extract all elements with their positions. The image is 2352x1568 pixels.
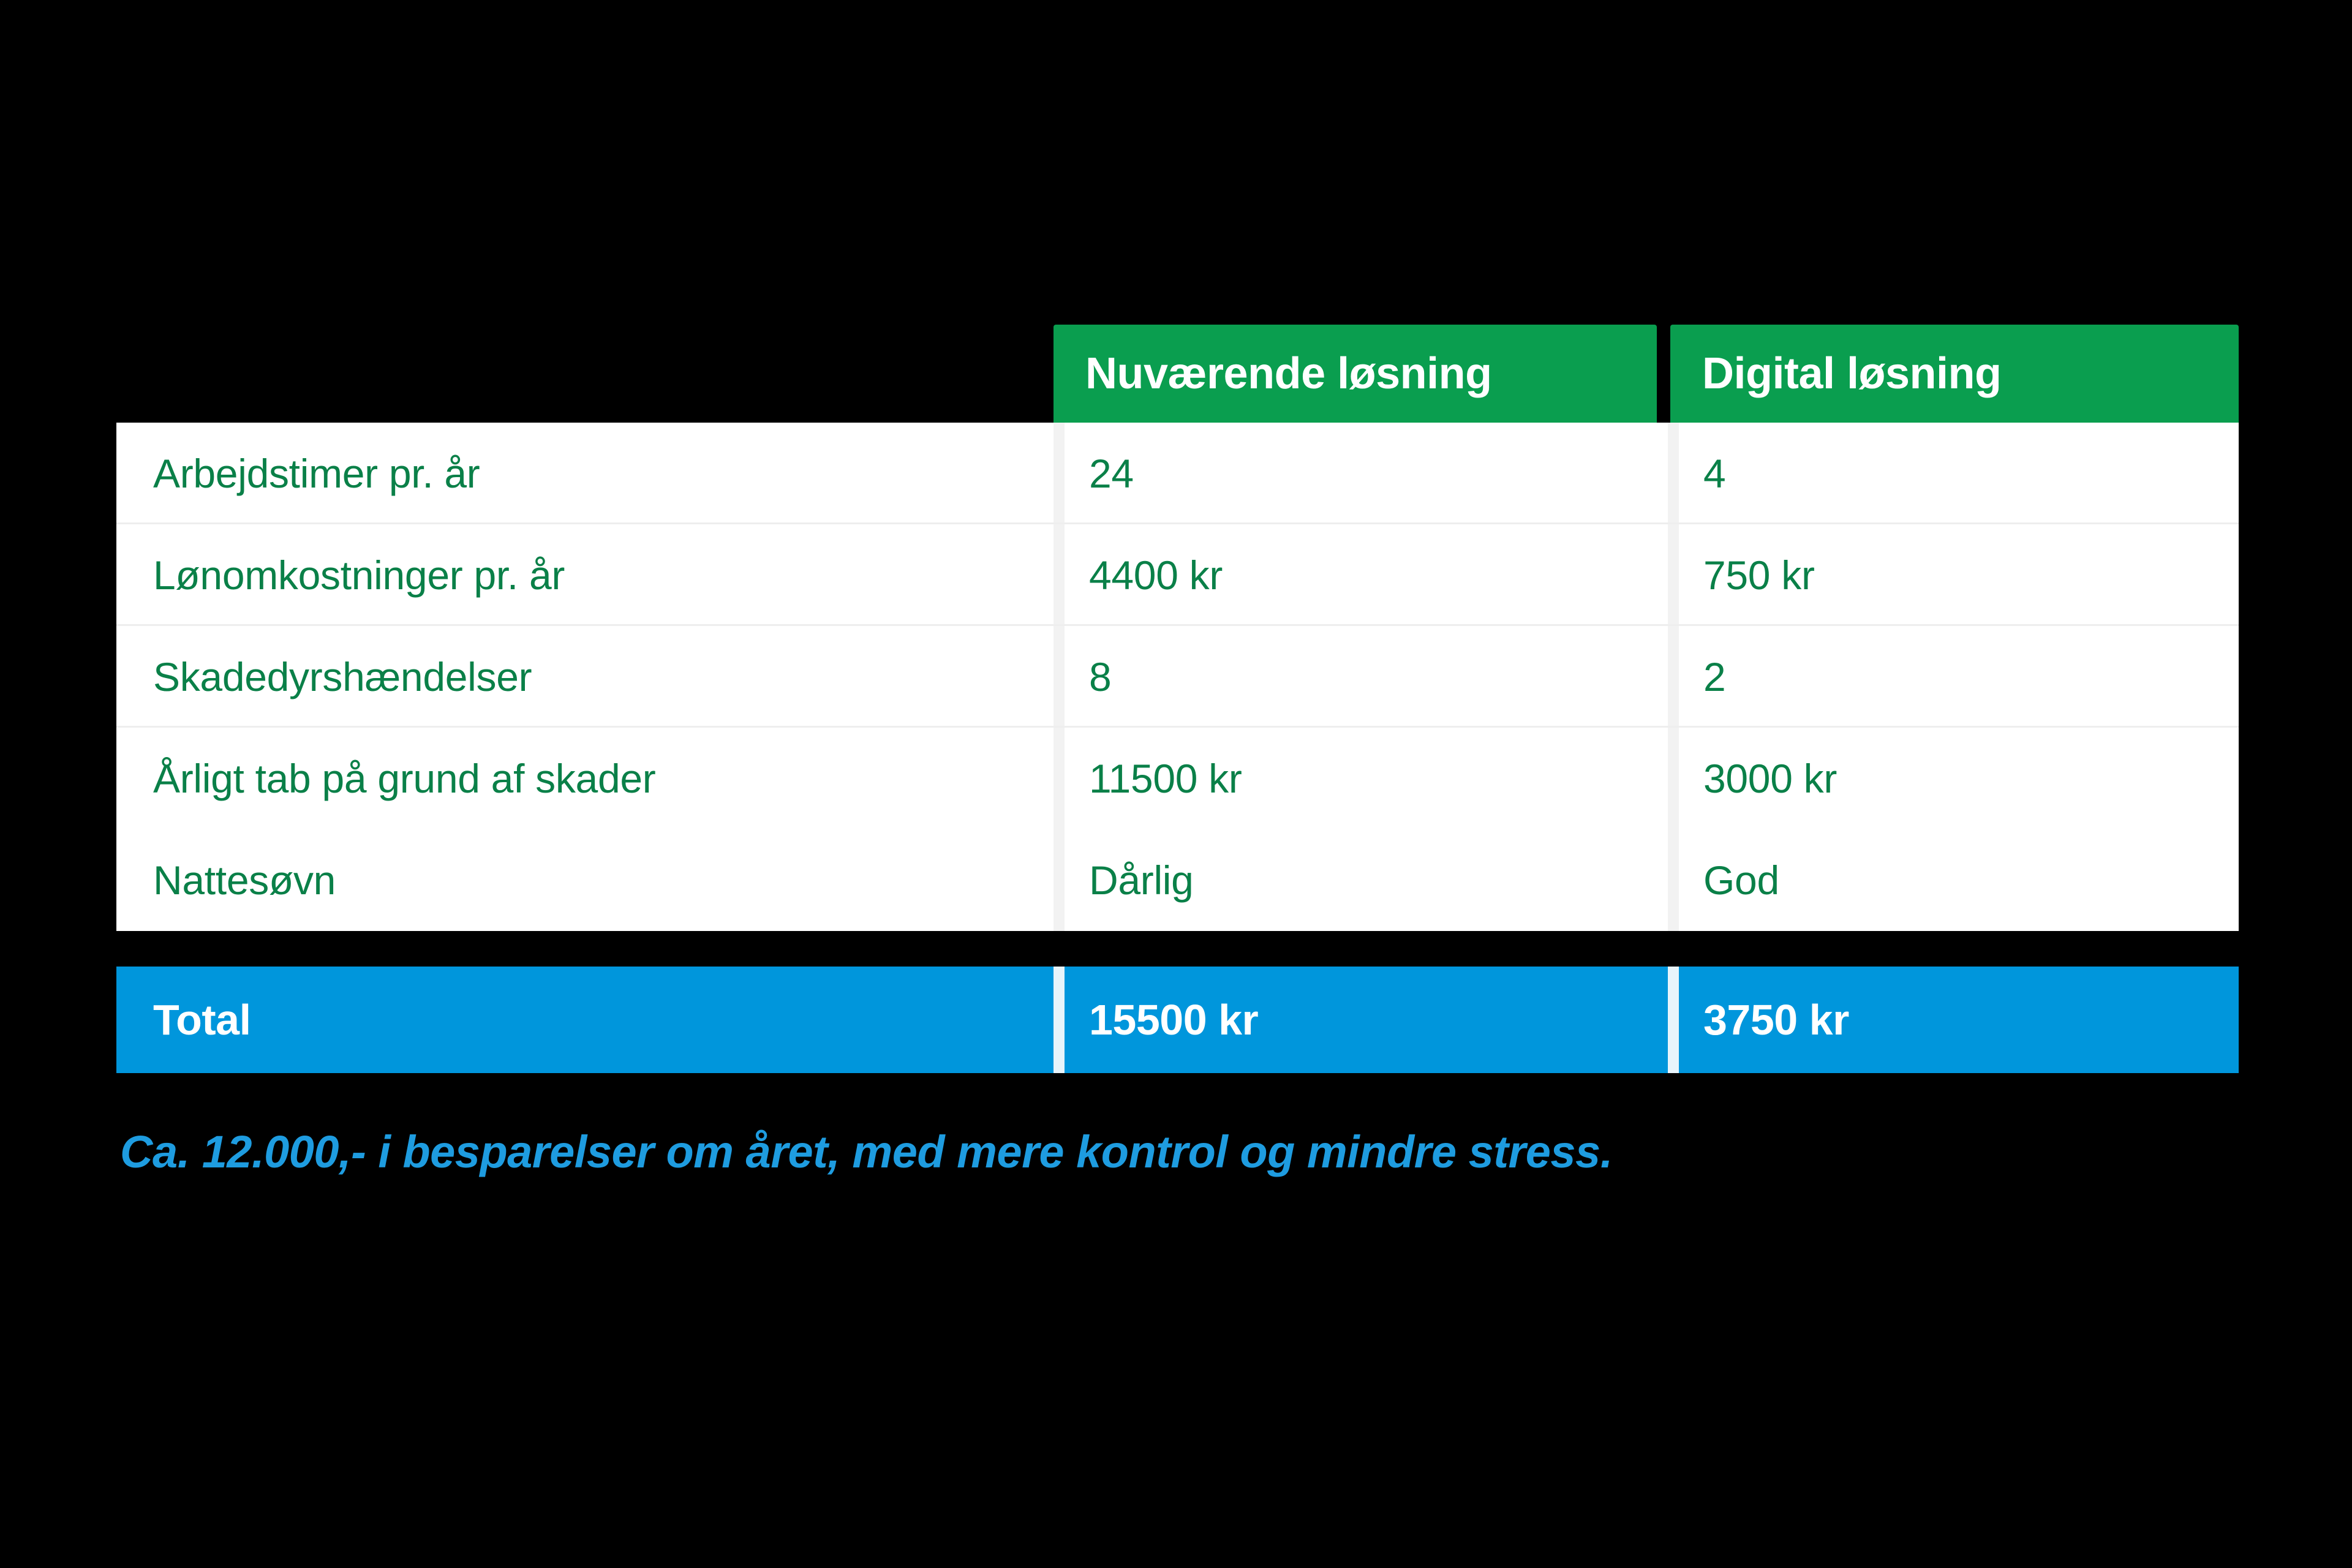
cell-current-night-sleep: Dårlig	[1065, 829, 1668, 931]
cell-current-working-hours: 24	[1065, 423, 1668, 524]
table-row: Skadedyrshændelser 8 2	[116, 626, 2239, 728]
row-label-wage-costs: Lønomkostninger pr. år	[116, 524, 1053, 626]
cell-digital-pest-incidents: 2	[1679, 626, 2236, 728]
comparison-table-body: Arbejdstimer pr. år 24 4 Lønomkostninger…	[116, 423, 2239, 931]
column-divider	[1668, 524, 1679, 626]
total-current-value: 15500 kr	[1065, 967, 1668, 1073]
cell-digital-annual-damage-loss: 3000 kr	[1679, 728, 2236, 829]
total-label: Total	[116, 967, 1053, 1073]
column-divider	[1053, 626, 1065, 728]
column-divider	[1668, 626, 1679, 728]
table-row: Årligt tab på grund af skader 11500 kr 3…	[116, 728, 2239, 829]
row-label-working-hours: Arbejdstimer pr. år	[116, 423, 1053, 524]
column-divider	[1053, 728, 1065, 829]
column-divider	[1668, 829, 1679, 931]
cell-current-wage-costs: 4400 kr	[1065, 524, 1668, 626]
table-row: Nattesøvn Dårlig God	[116, 829, 2239, 931]
column-divider	[1053, 524, 1065, 626]
cell-digital-night-sleep: God	[1679, 829, 2236, 931]
total-column-divider	[1668, 967, 1679, 1073]
column-header-current-solution: Nuværende løsning	[1053, 325, 1657, 423]
header-column-divider	[1657, 325, 1670, 423]
table-row: Lønomkostninger pr. år 4400 kr 750 kr	[116, 524, 2239, 626]
column-divider	[1053, 423, 1065, 524]
column-header-digital-solution: Digital løsning	[1670, 325, 2239, 423]
row-label-night-sleep: Nattesøvn	[116, 829, 1053, 931]
slide-canvas: Nuværende løsning Digital løsning Arbejd…	[0, 0, 2352, 1568]
cell-digital-wage-costs: 750 kr	[1679, 524, 2236, 626]
total-row: Total 15500 kr 3750 kr	[116, 967, 2239, 1073]
cell-current-annual-damage-loss: 11500 kr	[1065, 728, 1668, 829]
row-label-annual-damage-loss: Årligt tab på grund af skader	[116, 728, 1053, 829]
column-divider	[1668, 423, 1679, 524]
cell-current-pest-incidents: 8	[1065, 626, 1668, 728]
column-divider	[1053, 829, 1065, 931]
column-divider	[1668, 728, 1679, 829]
cell-digital-working-hours: 4	[1679, 423, 2236, 524]
table-row: Arbejdstimer pr. år 24 4	[116, 423, 2239, 524]
row-label-pest-incidents: Skadedyrshændelser	[116, 626, 1053, 728]
savings-caption: Ca. 12.000,- i besparelser om året, med …	[120, 1126, 1613, 1178]
table-header-row: Nuværende løsning Digital løsning	[1053, 325, 2239, 423]
total-digital-value: 3750 kr	[1679, 967, 2236, 1073]
total-column-divider	[1053, 967, 1065, 1073]
